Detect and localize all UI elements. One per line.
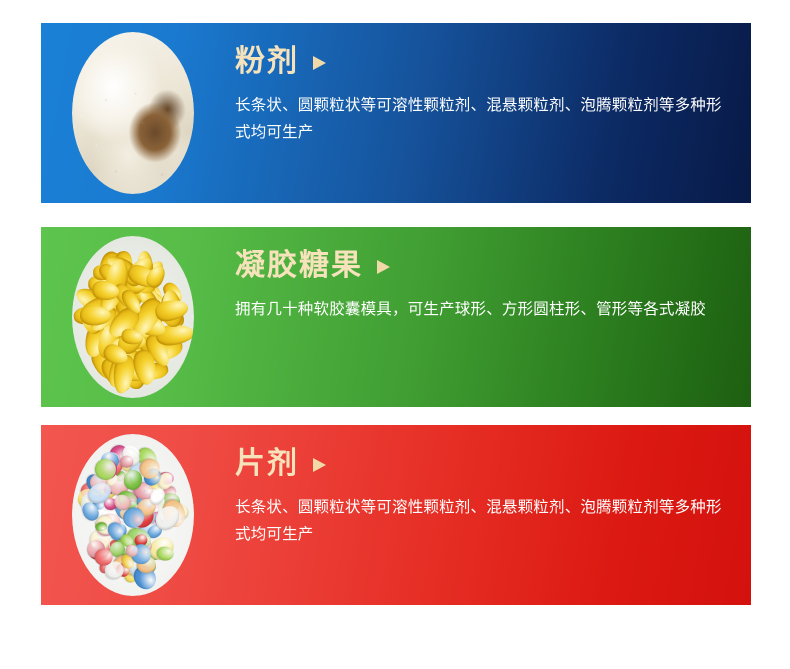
product-photo-tablet [72, 434, 194, 596]
banner-powder-title-row[interactable]: 粉剂 [235, 47, 735, 77]
banner-powder-description: 长条状、圆颗粒状等可溶性颗粒剂、混悬颗粒剂、泡腾颗粒剂等多种形式均可生产 [235, 93, 735, 146]
banner-powder[interactable]: 粉剂 长条状、圆颗粒状等可溶性颗粒剂、混悬颗粒剂、泡腾颗粒剂等多种形式均可生产 [41, 23, 751, 203]
tablet-cluster [72, 434, 194, 596]
gel-capsules-cluster [72, 236, 194, 398]
product-photo-powder [72, 32, 194, 194]
banner-gel-candy-title: 凝胶糖果 [235, 251, 363, 281]
banner-gel-candy-description: 拥有几十种软胶囊模具，可生产球形、方形圆柱形、管形等各式凝胶 [235, 297, 735, 324]
powder-photo-texture [72, 32, 194, 194]
product-photo-gel-candy [72, 236, 194, 398]
banner-powder-title: 粉剂 [235, 47, 299, 77]
banner-tablet[interactable]: 片剂 长条状、圆颗粒状等可溶性颗粒剂、混悬颗粒剂、泡腾颗粒剂等多种形式均可生产 [41, 425, 751, 605]
product-category-banner-list: 粉剂 长条状、圆颗粒状等可溶性颗粒剂、混悬颗粒剂、泡腾颗粒剂等多种形式均可生产 … [0, 0, 790, 669]
banner-tablet-text: 片剂 长条状、圆颗粒状等可溶性颗粒剂、混悬颗粒剂、泡腾颗粒剂等多种形式均可生产 [235, 449, 735, 548]
banner-gel-candy[interactable]: 凝胶糖果 拥有几十种软胶囊模具，可生产球形、方形圆柱形、管形等各式凝胶 [41, 227, 751, 407]
banner-gel-candy-text: 凝胶糖果 拥有几十种软胶囊模具，可生产球形、方形圆柱形、管形等各式凝胶 [235, 251, 735, 324]
arrow-right-icon[interactable] [313, 458, 326, 472]
banner-powder-text: 粉剂 长条状、圆颗粒状等可溶性颗粒剂、混悬颗粒剂、泡腾颗粒剂等多种形式均可生产 [235, 47, 735, 146]
tablet-pill [126, 544, 138, 556]
banner-tablet-title-row[interactable]: 片剂 [235, 449, 735, 479]
banner-tablet-title: 片剂 [235, 449, 299, 479]
arrow-right-icon[interactable] [313, 56, 326, 70]
arrow-right-icon[interactable] [377, 260, 390, 274]
banner-gel-candy-title-row[interactable]: 凝胶糖果 [235, 251, 735, 281]
banner-tablet-description: 长条状、圆颗粒状等可溶性颗粒剂、混悬颗粒剂、泡腾颗粒剂等多种形式均可生产 [235, 495, 735, 548]
